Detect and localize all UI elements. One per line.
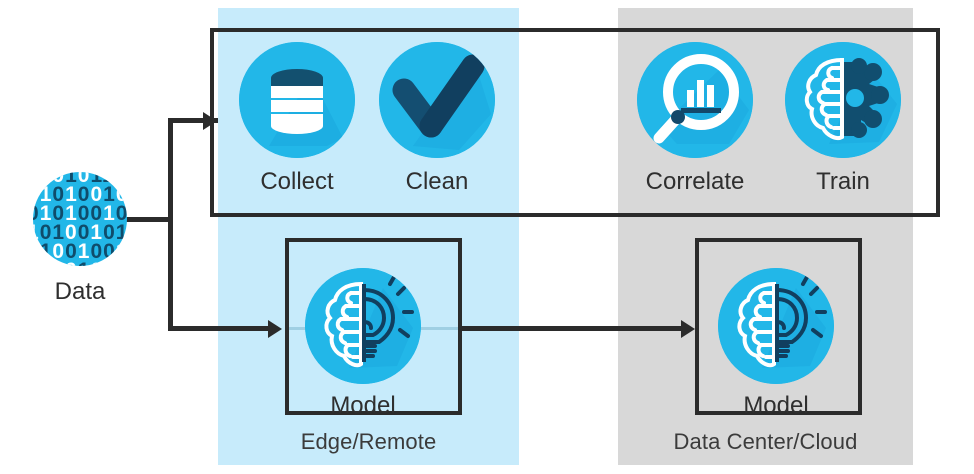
node-model-datacenter: Model <box>718 268 834 420</box>
arrowhead-to-model-edge <box>268 320 282 338</box>
zone-datacenter-label: Data Center/Cloud <box>618 429 913 455</box>
connector-to-model-edge <box>168 326 274 331</box>
zone-edge-label: Edge/Remote <box>218 429 519 455</box>
connector-model-edge-to-dc <box>462 326 688 331</box>
node-model-datacenter-label: Model <box>718 392 834 420</box>
node-clean: Clean <box>379 42 495 196</box>
database-icon <box>239 42 355 158</box>
node-correlate: Correlate <box>637 42 753 196</box>
binary-digits-icon: 1001011001010010010100101010010101001001… <box>33 172 127 266</box>
node-data: 1001011001010010010100101010010101001001… <box>33 172 127 306</box>
connector-data-trunk <box>122 217 173 222</box>
diagram-canvas: Edge/Remote Data Center/Cloud 1001011001… <box>0 0 974 474</box>
brain-gear-icon <box>785 42 901 158</box>
brain-lightbulb-icon <box>305 268 421 384</box>
node-collect-label: Collect <box>239 168 355 196</box>
checkmark-icon <box>379 42 495 158</box>
binary-digits-text: 1001011001010010010100101010010101001001… <box>33 172 127 266</box>
node-correlate-label: Correlate <box>637 168 753 196</box>
node-data-label: Data <box>33 278 127 306</box>
arrowhead-to-model-dc <box>681 320 695 338</box>
node-model-edge: Model <box>305 268 421 420</box>
connector-vertical-split <box>168 118 173 331</box>
node-train: Train <box>785 42 901 196</box>
magnifier-bar-chart-icon <box>637 42 753 158</box>
node-collect: Collect <box>239 42 355 196</box>
node-clean-label: Clean <box>379 168 495 196</box>
node-model-edge-label: Model <box>305 392 421 420</box>
brain-lightbulb-icon <box>718 268 834 384</box>
node-train-label: Train <box>785 168 901 196</box>
